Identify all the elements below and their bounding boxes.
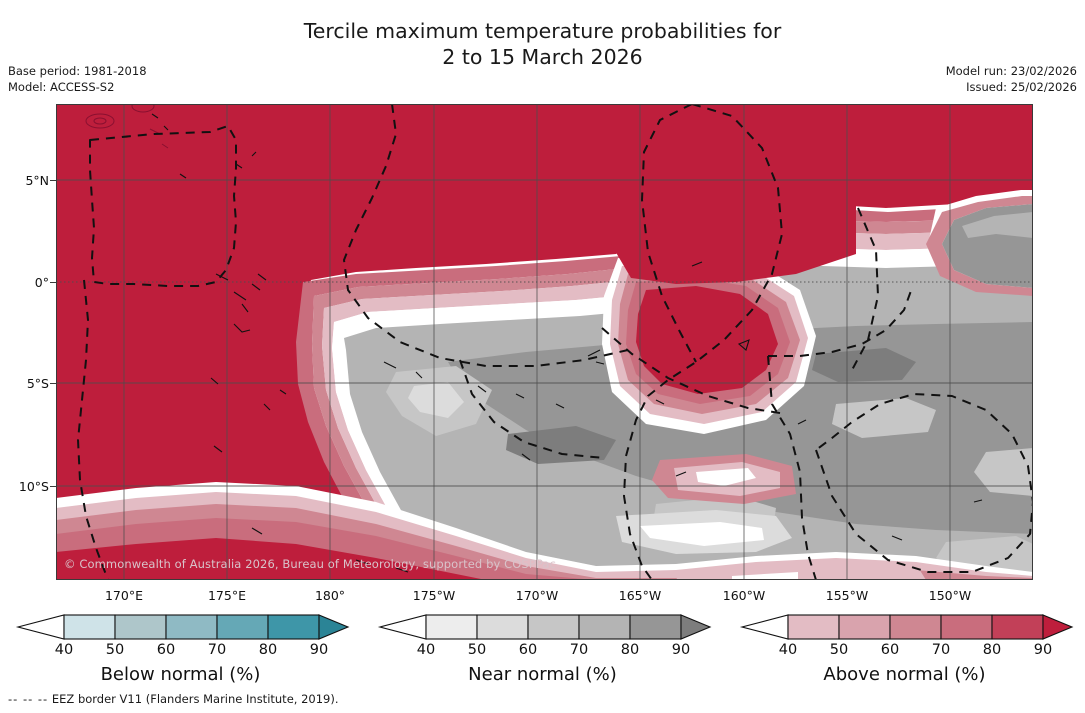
cbar-near-tick-80: 80 (621, 642, 639, 658)
cbar-near-tick-60: 60 (519, 642, 537, 658)
lon-tick-165w: 165°W (600, 588, 680, 603)
footer-eez-legend: -- -- -- EEZ border V11 (Flanders Marine… (8, 692, 339, 706)
cbar-near-seg-70 (579, 615, 630, 639)
metadata-right: Model run: 23/02/2026 Issued: 25/02/2026 (946, 63, 1077, 95)
cbar-above-tick-50: 50 (830, 642, 848, 658)
lon-tick-155w: 155°W (807, 588, 887, 603)
cbar-above-seg-80 (992, 615, 1043, 639)
cbar-above-tick-60: 60 (881, 642, 899, 658)
cbar-near-label: Near normal (%) (370, 664, 715, 685)
base-period-text: Base period: 1981-2018 (8, 63, 147, 79)
cbar-below-left-arrow (18, 615, 64, 639)
colorbar-above-normal[interactable]: 40 50 60 70 80 90 Above normal (%) (732, 612, 1077, 700)
cbar-above-seg-60 (890, 615, 941, 639)
cbar-near-tick-50: 50 (468, 642, 486, 658)
cbar-above-tick-90: 90 (1034, 642, 1052, 658)
lon-tick-170e: 170°E (84, 588, 164, 603)
lon-tick-180: 180° (290, 588, 370, 603)
model-run-text: Model run: 23/02/2026 (946, 63, 1077, 79)
eez-dash-symbol: -- -- -- (8, 692, 48, 706)
colorbar-near-normal[interactable]: 40 50 60 70 80 90 Near normal (%) (370, 612, 715, 700)
lat-tickmark-5s (50, 383, 56, 384)
cbar-below-tick-50: 50 (106, 642, 124, 658)
cbar-above-tick-row: 40 50 60 70 80 90 (732, 642, 1077, 662)
lat-tick-0: 0° (0, 275, 49, 290)
lon-tick-160w: 160°W (704, 588, 784, 603)
lat-tick-5n: 5°N (0, 173, 49, 188)
metadata-left: Base period: 1981-2018 Model: ACCESS-S2 (8, 63, 147, 95)
cbar-above-seg-40 (788, 615, 839, 639)
lat-tickmark-10s (50, 486, 56, 487)
colorbar-below-normal[interactable]: 40 50 60 70 80 90 Below normal (%) (8, 612, 353, 700)
cbar-near-seg-40 (426, 615, 477, 639)
lat-tickmark-5n (50, 180, 56, 181)
cbar-below-tick-70: 70 (208, 642, 226, 658)
cbar-near-left-arrow (380, 615, 426, 639)
cbar-above-seg-50 (839, 615, 890, 639)
lat-tick-10s: 10°S (0, 479, 49, 494)
lon-tick-175e: 175°E (187, 588, 267, 603)
cbar-below-tick-90: 90 (310, 642, 328, 658)
lon-tick-150w: 150°W (910, 588, 990, 603)
lat-tick-5s: 5°S (0, 376, 49, 391)
cbar-near-seg-80 (630, 615, 681, 639)
cbar-below-seg-80 (268, 615, 319, 639)
cbar-below-tick-row: 40 50 60 70 80 90 (8, 642, 353, 662)
cbar-below-seg-70 (217, 615, 268, 639)
cbar-near-seg-50 (477, 615, 528, 639)
contour-red-tongue-neck (611, 104, 856, 284)
title-line-2: 2 to 15 March 2026 (0, 44, 1085, 70)
page-title: Tercile maximum temperature probabilitie… (0, 18, 1085, 70)
lat-tickmark-0 (50, 282, 56, 283)
cbar-near-tick-90: 90 (672, 642, 690, 658)
cbar-above-seg-70 (941, 615, 992, 639)
probability-map[interactable] (56, 104, 1033, 580)
cbar-below-tick-60: 60 (157, 642, 175, 658)
cbar-near-tick-row: 40 50 60 70 80 90 (370, 642, 715, 662)
cbar-below-seg-50 (115, 615, 166, 639)
cbar-below-tick-40: 40 (55, 642, 73, 658)
cbar-near-tick-40: 40 (417, 642, 435, 658)
lon-tick-175w: 175°W (394, 588, 474, 603)
cbar-above-label: Above normal (%) (732, 664, 1077, 685)
cbar-below-seg-60 (166, 615, 217, 639)
issued-text: Issued: 25/02/2026 (946, 79, 1077, 95)
cbar-above-tick-80: 80 (983, 642, 1001, 658)
cbar-near-right-arrow (681, 615, 710, 639)
cbar-below-seg-40 (64, 615, 115, 639)
cbar-near-seg-60 (528, 615, 579, 639)
cbar-below-label: Below normal (%) (8, 664, 353, 685)
cbar-above-right-arrow (1043, 615, 1072, 639)
cbar-below-tick-80: 80 (259, 642, 277, 658)
cbar-above-left-arrow (742, 615, 788, 639)
cbar-above-tick-70: 70 (932, 642, 950, 658)
eez-legend-text: EEZ border V11 (Flanders Marine Institut… (52, 692, 339, 706)
cbar-below-right-arrow (319, 615, 348, 639)
cbar-near-tick-70: 70 (570, 642, 588, 658)
lon-tick-170w: 170°W (497, 588, 577, 603)
title-line-1: Tercile maximum temperature probabilitie… (304, 19, 782, 43)
map-copyright-overlay: © Commonwealth of Australia 2026, Bureau… (64, 557, 556, 571)
model-text: Model: ACCESS-S2 (8, 79, 147, 95)
cbar-above-tick-40: 40 (779, 642, 797, 658)
